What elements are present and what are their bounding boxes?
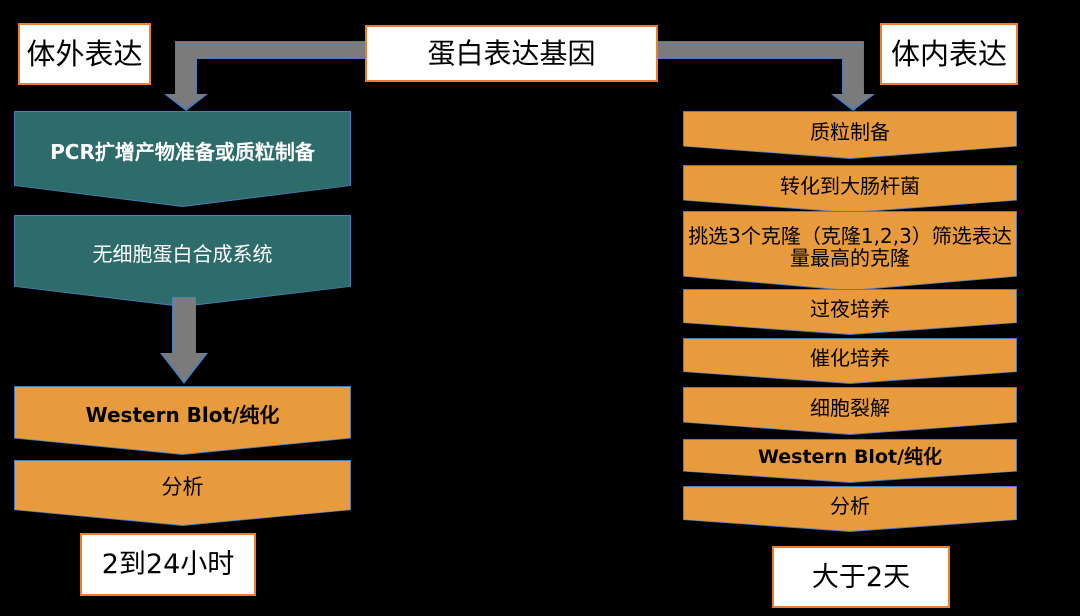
label-box-in-vivo: 体内表达 xyxy=(880,23,1018,85)
right-step-1[interactable]: 质粒制备 xyxy=(684,112,1016,158)
left-step-3[interactable]: Western Blot/纯化 xyxy=(15,387,350,454)
right-step-1-label: 质粒制备 xyxy=(684,121,1016,143)
right-step-8-label: 分析 xyxy=(684,495,1016,517)
left-duration-box: 2到24小时 xyxy=(80,533,256,596)
right-step-6-label: 细胞裂解 xyxy=(684,397,1016,419)
right-step-8[interactable]: 分析 xyxy=(684,487,1016,531)
right-step-3-label: 挑选3个克隆（克隆1,2,3）筛选表达量最高的克隆 xyxy=(684,225,1016,270)
left-step-4[interactable]: 分析 xyxy=(15,461,350,525)
title-box-gene-text: 蛋白表达基因 xyxy=(427,40,595,68)
left-step-1[interactable]: PCR扩增产物准备或质粒制备 xyxy=(15,112,350,206)
label-box-in-vitro-text: 体外表达 xyxy=(26,40,142,69)
left-down-arrow-shaft xyxy=(173,298,195,356)
label-box-in-vivo-text: 体内表达 xyxy=(891,40,1007,69)
left-step-1-label: PCR扩增产物准备或质粒制备 xyxy=(15,141,350,163)
left-step-2[interactable]: 无细胞蛋白合成系统 xyxy=(15,216,350,306)
right-step-3[interactable]: 挑选3个克隆（克隆1,2,3）筛选表达量最高的克隆 xyxy=(684,212,1016,290)
right-step-5-label: 催化培养 xyxy=(684,347,1016,369)
right-duration-text: 大于2天 xyxy=(812,564,910,591)
right-elbow-arrowhead-fill xyxy=(833,94,873,108)
left-elbow-vertical-shaft xyxy=(176,42,196,96)
left-duration-text: 2到24小时 xyxy=(102,551,235,578)
title-box-gene: 蛋白表达基因 xyxy=(365,25,658,82)
left-elbow-arrowhead-fill xyxy=(166,94,206,108)
left-down-arrowhead-fill xyxy=(162,353,206,381)
right-step-2-label: 转化到大肠杆菌 xyxy=(684,175,1016,197)
right-elbow-vertical-shaft xyxy=(843,42,863,96)
left-elbow-horizontal-bar xyxy=(176,42,366,58)
right-step-5[interactable]: 催化培养 xyxy=(684,339,1016,383)
right-step-4-label: 过夜培养 xyxy=(684,298,1016,320)
right-elbow-horizontal-bar xyxy=(658,42,863,58)
right-step-7[interactable]: Western Blot/纯化 xyxy=(684,440,1016,482)
flowchart-canvas: 体外表达 蛋白表达基因 体内表达 PCR扩增产物准备或质粒制备 无细胞蛋白合成系… xyxy=(0,0,1080,616)
right-step-4[interactable]: 过夜培养 xyxy=(684,290,1016,334)
left-step-4-label: 分析 xyxy=(15,476,350,500)
right-duration-box: 大于2天 xyxy=(772,546,950,608)
left-step-3-label: Western Blot/纯化 xyxy=(15,404,350,426)
left-step-2-label: 无细胞蛋白合成系统 xyxy=(15,243,350,265)
right-step-6[interactable]: 细胞裂解 xyxy=(684,388,1016,434)
right-step-2[interactable]: 转化到大肠杆菌 xyxy=(684,166,1016,212)
label-box-in-vitro: 体外表达 xyxy=(18,23,151,85)
right-step-7-label: Western Blot/纯化 xyxy=(684,447,1016,468)
